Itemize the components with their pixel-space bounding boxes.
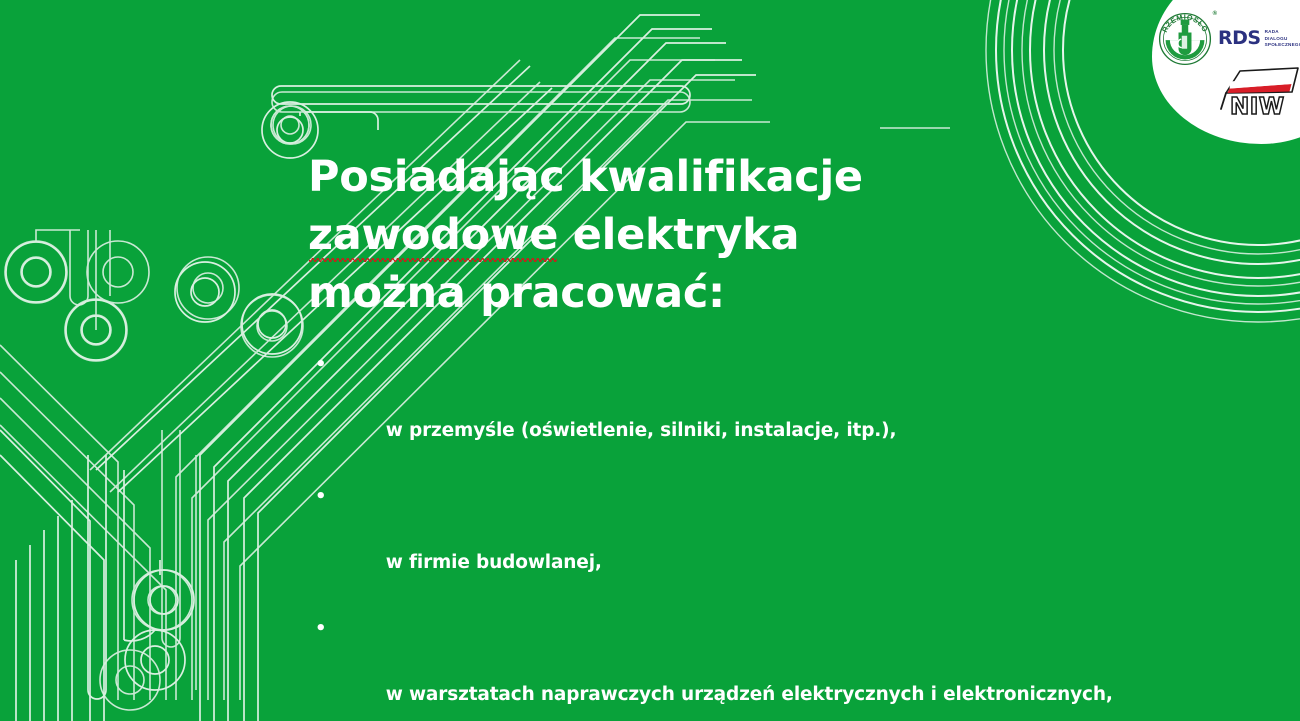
headline-line-2: zawodowe elektryka <box>308 206 1088 264</box>
slide-canvas: RZEMIOSŁO ® RDS RADA DIALOGU SPOŁECZNEGO <box>0 0 1300 721</box>
niw-wordmark: NIW <box>1230 94 1285 120</box>
logo-row-top: RZEMIOSŁO ® RDS RADA DIALOGU SPOŁECZNEGO <box>1158 12 1300 66</box>
headline-line-3: można pracować: <box>308 264 1088 322</box>
list-item-label: w warsztatach naprawczych urządzeń elekt… <box>386 684 1113 705</box>
headline-line-2-rest: elektryka <box>558 210 799 260</box>
list-item-label: w firmie budowlanej, <box>386 552 602 573</box>
list-item: • w przemyśle (oświetlenie, silniki, ins… <box>310 348 1210 480</box>
rds-subtitle-line3: SPOŁECZNEGO <box>1265 42 1300 49</box>
list-item: • w warsztatach naprawczych urządzeń ele… <box>310 612 1210 721</box>
logo-badge: RZEMIOSŁO ® RDS RADA DIALOGU SPOŁECZNEGO <box>1152 0 1300 144</box>
rzemioslo-logo: RZEMIOSŁO ® <box>1158 12 1212 66</box>
bullet-marker-icon: • <box>315 480 325 513</box>
list-item-label: w przemyśle (oświetlenie, silniki, insta… <box>386 420 897 441</box>
headline-line-1: Posiadając kwalifikacje <box>308 148 1088 206</box>
bullet-marker-icon: • <box>315 348 325 381</box>
misspelled-word: zawodowe <box>308 206 558 264</box>
list-item: • w firmie budowlanej, <box>310 480 1210 612</box>
rds-wordmark: RDS <box>1218 29 1261 48</box>
rds-logo: RDS RADA DIALOGU SPOŁECZNEGO <box>1218 29 1300 49</box>
rds-subtitle: RADA DIALOGU SPOŁECZNEGO <box>1265 29 1300 49</box>
niw-logo: NIW <box>1204 62 1300 122</box>
page-title: Posiadając kwalifikacje zawodowe elektry… <box>308 148 1088 322</box>
trademark-symbol: ® <box>1213 11 1217 17</box>
bullet-list: • w przemyśle (oświetlenie, silniki, ins… <box>310 348 1210 721</box>
bullet-marker-icon: • <box>315 612 325 645</box>
